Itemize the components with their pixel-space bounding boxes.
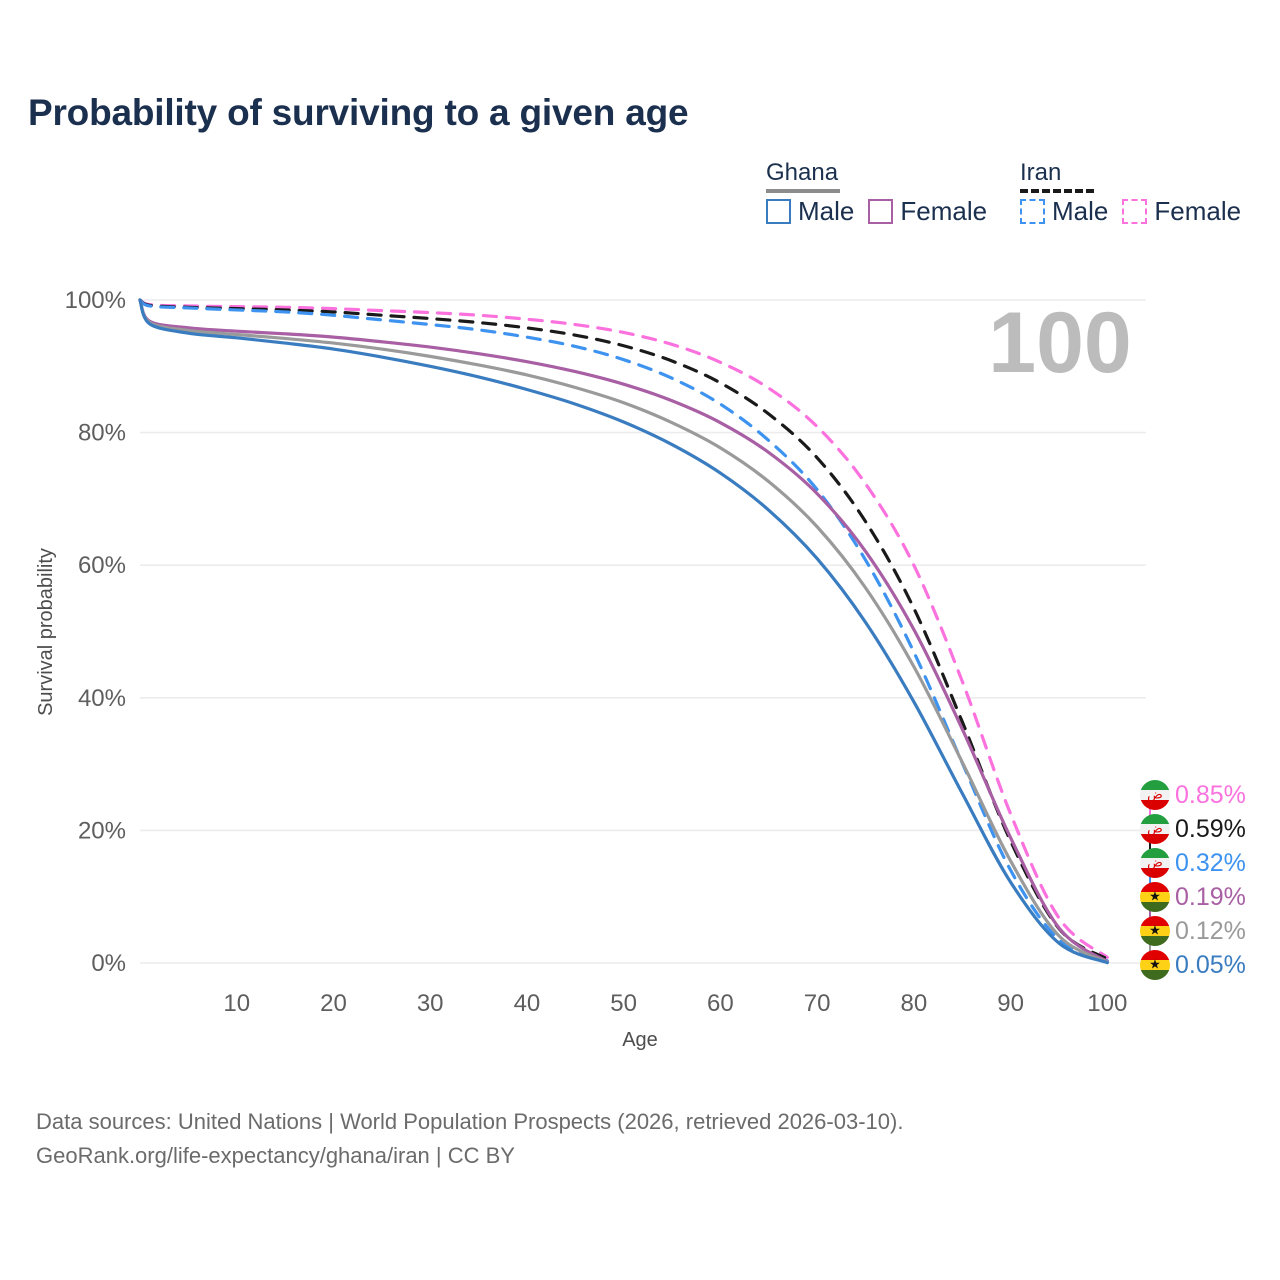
x-tick-label: 100 [1087, 990, 1127, 1017]
x-tick-label: 60 [707, 990, 734, 1017]
watermark-label: 100 [988, 295, 1132, 391]
end-label-row: ★0.19% [1140, 882, 1246, 912]
series-lines [140, 300, 1107, 963]
series-line-iran-total [140, 300, 1107, 959]
end-label-row: ض0.85% [1140, 780, 1246, 810]
end-label-value: 0.85% [1175, 783, 1246, 808]
footer-line-sources: Data sources: United Nations | World Pop… [36, 1105, 1136, 1139]
series-line-ghana-total [140, 300, 1107, 962]
end-label-value: 0.05% [1175, 953, 1246, 978]
flag-icon-ghana: ★ [1140, 916, 1170, 946]
footer: Data sources: United Nations | World Pop… [36, 1105, 1136, 1173]
flag-emblem-icon: ★ [1149, 925, 1161, 938]
x-axis-title: Age [622, 1029, 658, 1051]
end-label-value: 0.32% [1175, 851, 1246, 876]
x-tick-label: 10 [223, 990, 250, 1017]
series-line-iran-male [140, 300, 1107, 961]
x-axis-ticks: 102030405060708090100 [223, 990, 1127, 1017]
y-axis-ticks: 0%20%40%60%80%100% [65, 287, 126, 977]
y-tick-label: 0% [91, 950, 126, 977]
x-tick-label: 20 [320, 990, 347, 1017]
flag-icon-iran: ض [1140, 780, 1170, 810]
y-tick-label: 40% [78, 685, 126, 712]
chart-plot-area: 0%20%40%60%80%100% 102030405060708090100… [0, 0, 1280, 1280]
y-tick-label: 100% [65, 287, 126, 314]
series-line-ghana-female [140, 300, 1107, 962]
flag-icon-ghana: ★ [1140, 882, 1170, 912]
series-line-iran-female [140, 300, 1107, 957]
x-tick-label: 80 [900, 990, 927, 1017]
flag-emblem-icon: ★ [1149, 891, 1161, 904]
series-line-ghana-male [140, 300, 1107, 963]
x-tick-label: 30 [417, 990, 444, 1017]
end-labels: ض0.85%ض0.59%ض0.32%★0.19%★0.12%★0.05% [1140, 770, 1280, 980]
y-tick-label: 80% [78, 420, 126, 447]
flag-icon-iran: ض [1140, 814, 1170, 844]
end-label-row: ★0.05% [1140, 950, 1246, 980]
flag-emblem-icon: ض [1147, 857, 1163, 870]
x-tick-label: 40 [514, 990, 541, 1017]
end-label-row: ض0.32% [1140, 848, 1246, 878]
x-tick-label: 50 [610, 990, 637, 1017]
y-axis-title: Survival probability [35, 548, 57, 716]
footer-line-attribution: GeoRank.org/life-expectancy/ghana/iran |… [36, 1139, 1136, 1173]
gridlines [140, 300, 1146, 963]
end-label-row: ★0.12% [1140, 916, 1246, 946]
x-tick-label: 90 [997, 990, 1024, 1017]
flag-emblem-icon: ض [1147, 823, 1163, 836]
end-label-value: 0.19% [1175, 885, 1246, 910]
x-tick-label: 70 [804, 990, 831, 1017]
survival-curve-svg: 0%20%40%60%80%100% 102030405060708090100… [0, 0, 1280, 1060]
end-label-row: ض0.59% [1140, 814, 1246, 844]
end-label-value: 0.12% [1175, 919, 1246, 944]
y-tick-label: 20% [78, 817, 126, 844]
end-label-value: 0.59% [1175, 817, 1246, 842]
flag-icon-iran: ض [1140, 848, 1170, 878]
flag-emblem-icon: ★ [1149, 959, 1161, 972]
flag-emblem-icon: ض [1147, 789, 1163, 802]
y-tick-label: 60% [78, 552, 126, 579]
flag-icon-ghana: ★ [1140, 950, 1170, 980]
